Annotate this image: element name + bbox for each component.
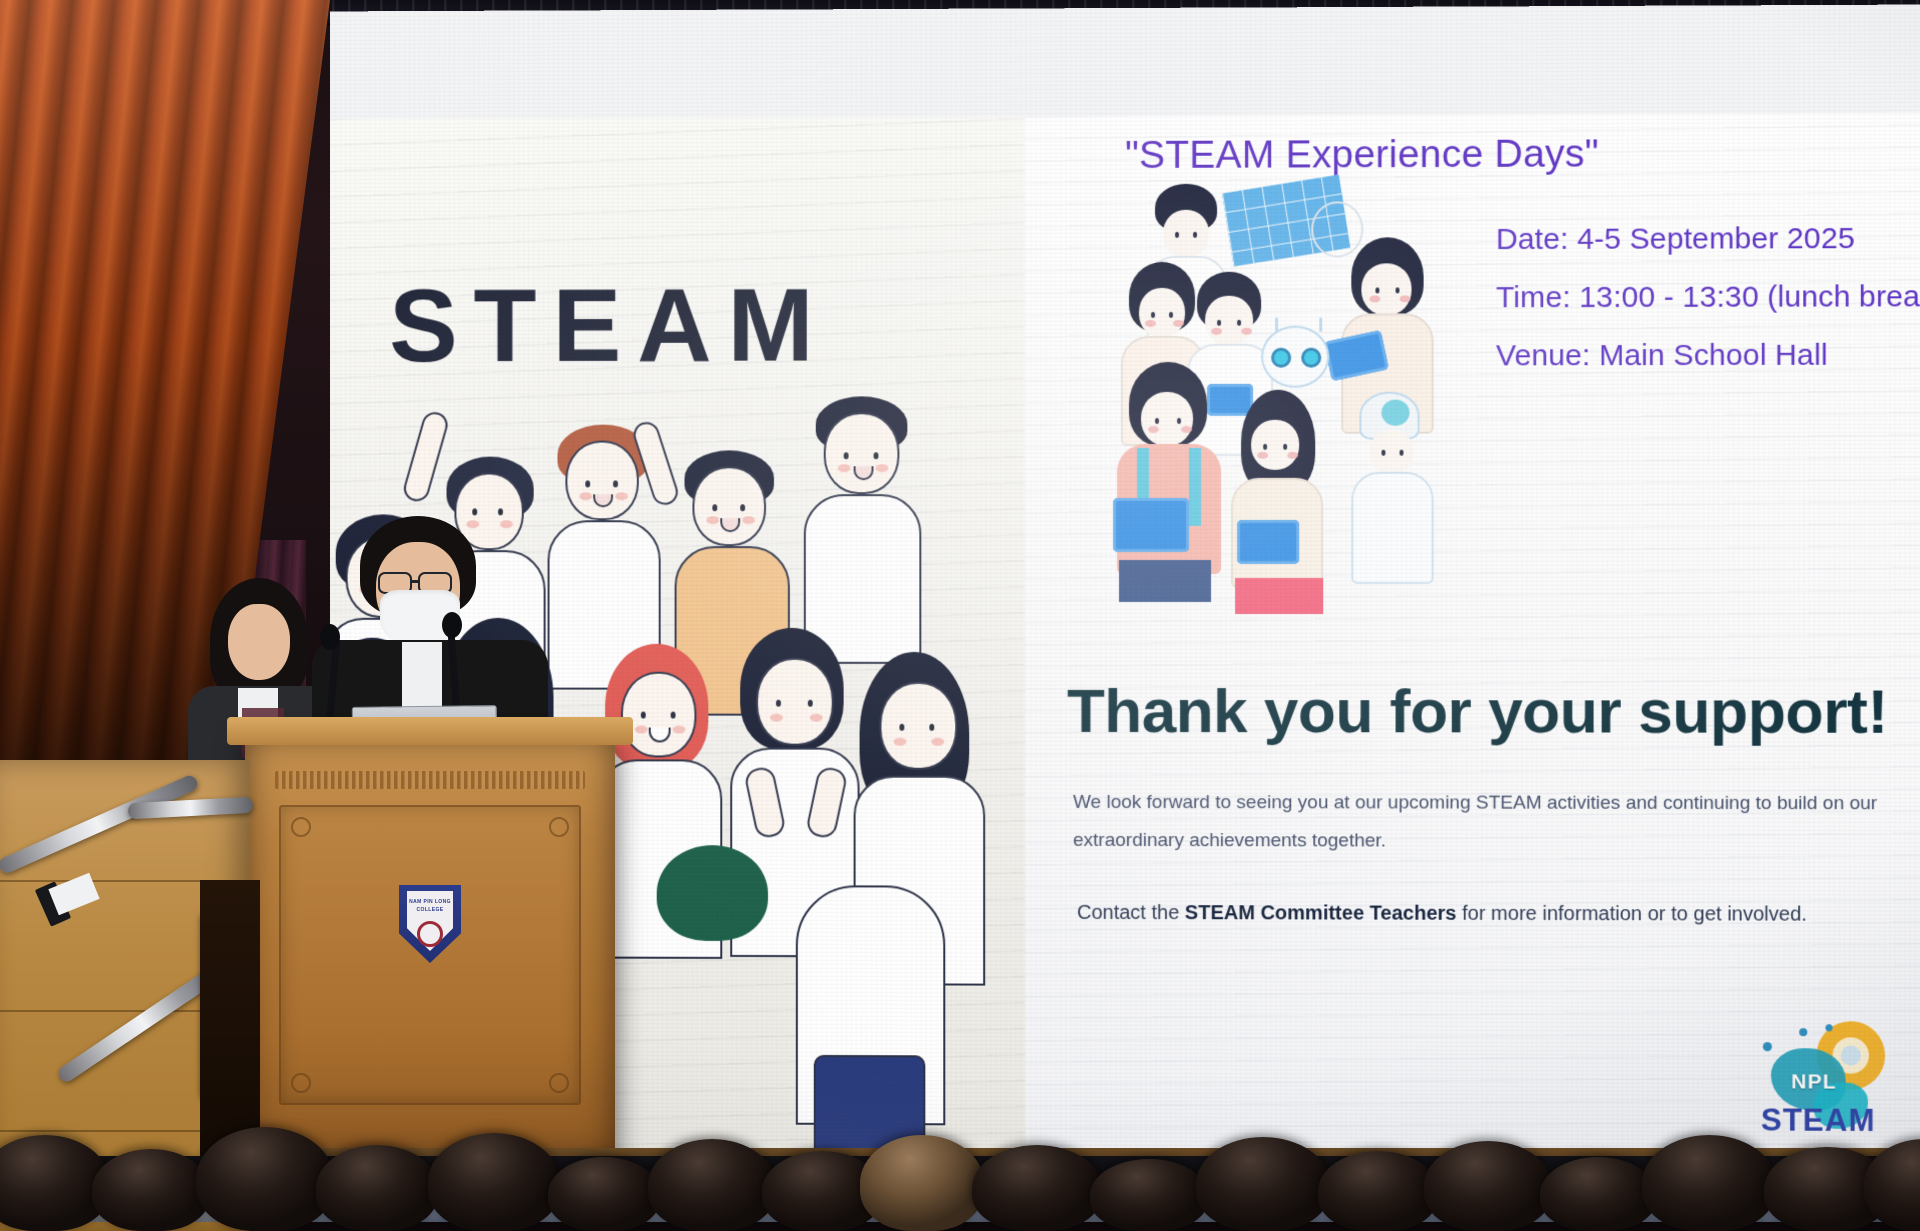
podium-ornament [291,817,311,837]
face [228,604,290,680]
audience-head [1090,1159,1208,1231]
body-paragraph: We look forward to seeing you at our upc… [1073,784,1889,862]
steam-kids-illustration [1115,175,1456,626]
audience-head [1196,1137,1330,1231]
crest-school-name: NAM PIN LONG [409,899,451,905]
glasses-bridge [412,580,420,583]
presentation-scene: STEAM [0,0,1920,1231]
microphone-head-right [442,612,462,638]
contact-highlight: STEAM Committee Teachers [1185,902,1457,925]
audience-head [1540,1157,1656,1231]
helmet-visor [1381,400,1409,426]
audience-head [1642,1135,1776,1231]
robot-antenna-right [1319,318,1322,332]
audience-head [860,1135,984,1231]
robot-eye-left [1271,348,1291,368]
podium-carved-band [275,771,585,789]
skirt [1235,578,1323,614]
robot-eye-right [1301,348,1321,368]
audience-head [1318,1151,1438,1231]
logo-node-dot [1825,1024,1832,1031]
audience-head [428,1133,560,1231]
contact-suffix: for more information or to get involved. [1456,903,1807,926]
contact-paragraph: Contact the STEAM Committee Teachers for… [1077,898,1891,930]
content-slide: "STEAM Experience Days" [1025,113,1920,1169]
podium-ornament [291,1073,311,1093]
event-details: Date: 4-5 September 2025 Time: 13:00 - 1… [1496,224,1920,400]
audience-head [1424,1141,1552,1231]
strap-right [1189,448,1201,526]
tablet-icon [1237,520,1299,564]
audience-head [92,1149,210,1231]
crest-college-text: COLLEGE [417,907,444,913]
speaking-podium: NAM PIN LONG COLLEGE [245,735,615,1160]
contact-prefix: Contact the [1077,902,1185,924]
crest-emblem-ring [417,921,443,947]
poster-wordmark: STEAM [389,267,830,386]
sketch-circle [1311,201,1363,257]
npl-steam-logo: NPL STEAM [1755,1022,1886,1141]
slide-title: "STEAM Experience Days" [1125,132,1599,178]
audience-head [316,1145,438,1231]
logo-node-dot [1799,1028,1807,1036]
podium-top-ledge [227,717,633,745]
audience-head [196,1127,334,1231]
logo-npl-text: NPL [1791,1070,1836,1094]
microphone-head-left [320,624,340,650]
event-venue: Venue: Main School Hall [1496,341,1920,372]
robot-antenna-left [1275,318,1278,332]
logo-node-dot [1763,1042,1772,1051]
shirt [402,642,442,712]
jeans [1119,560,1211,602]
podium-ornament [549,817,569,837]
thank-you-heading: Thank you for your support! [1067,676,1888,748]
audience-head [972,1145,1102,1231]
audience-head [548,1157,660,1231]
event-time: Time: 13:00 - 13:30 (lunch break) [1496,282,1920,313]
event-date: Date: 4-5 September 2025 [1496,224,1920,255]
audience-head [648,1139,776,1231]
tablet-icon [1113,498,1189,552]
tablet-icon [1207,384,1253,416]
logo-steam-text: STEAM [1761,1102,1876,1139]
podium-ornament [549,1073,569,1093]
